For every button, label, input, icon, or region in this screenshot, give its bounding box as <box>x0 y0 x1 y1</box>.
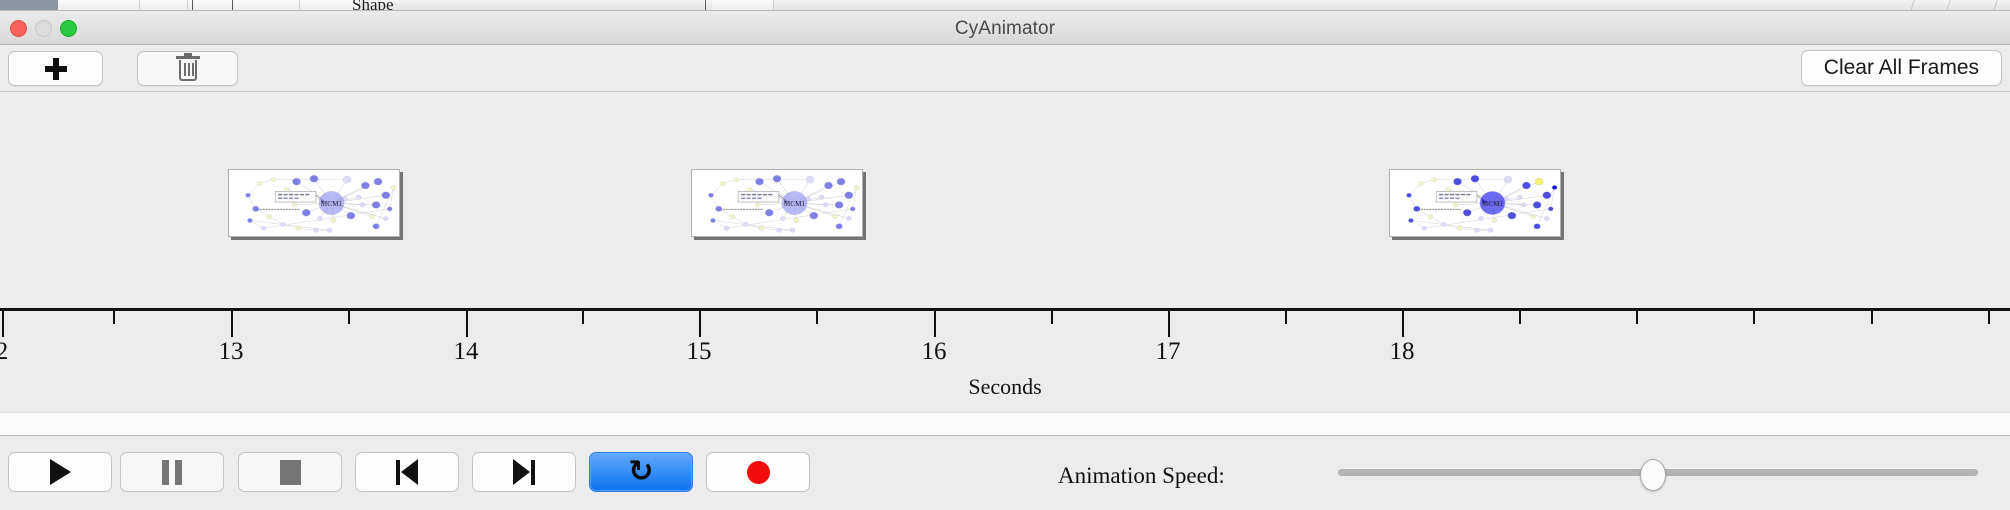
background-window-divider <box>1946 0 1960 11</box>
timeline-frame-thumbnail[interactable]: MCM1 <box>1389 169 1561 237</box>
add-frame-button[interactable] <box>8 51 103 86</box>
timeline-frame-thumbnail[interactable]: MCM1 <box>228 169 400 237</box>
timeline-scrollbar-track[interactable] <box>0 412 2010 436</box>
plus-icon <box>45 58 67 80</box>
axis-tick-major <box>2 311 4 337</box>
animation-speed-label: Animation Speed: <box>1058 463 1225 489</box>
record-icon <box>747 461 770 484</box>
axis-tick-minor <box>1285 311 1287 324</box>
axis-tick-major <box>466 311 468 337</box>
skip-back-icon <box>396 459 418 485</box>
clear-all-frames-button[interactable]: Clear All Frames <box>1801 50 2002 86</box>
playback-bar: ↻ Animation Speed: <box>0 437 2010 510</box>
background-window-tab <box>300 0 360 11</box>
axis-tick-minor <box>1636 311 1638 324</box>
timeline-axis <box>0 308 2010 311</box>
background-window-divider <box>232 0 233 11</box>
axis-tick-minor <box>113 311 115 324</box>
svg-text:MCM1: MCM1 <box>1482 200 1504 208</box>
stop-icon <box>280 460 301 485</box>
axis-tick-major <box>231 311 233 337</box>
cyanimator-window: Shape CyAnimator Clear All Frames 213141… <box>0 0 2010 510</box>
skip-to-start-button[interactable] <box>355 452 459 492</box>
axis-tick-minor <box>348 311 350 324</box>
pause-icon <box>162 460 182 485</box>
stop-button[interactable] <box>238 452 342 492</box>
svg-text:MCM1: MCM1 <box>321 200 343 208</box>
play-button[interactable] <box>8 452 112 492</box>
axis-tick-major <box>934 311 936 337</box>
animation-speed-slider-thumb[interactable] <box>1640 459 1666 491</box>
axis-tick-minor <box>1753 311 1755 324</box>
background-window-divider <box>192 0 193 11</box>
axis-tick-label: 15 <box>687 338 712 366</box>
background-window-dark-region <box>0 0 58 11</box>
axis-tick-minor <box>816 311 818 324</box>
trash-icon <box>176 56 200 82</box>
background-window-tab <box>58 0 140 11</box>
skip-forward-icon <box>513 459 535 485</box>
background-window-strip: Shape <box>0 0 2010 11</box>
delete-frame-button[interactable] <box>137 51 238 86</box>
loop-button[interactable]: ↻ <box>589 452 693 492</box>
background-window-divider <box>1993 0 2007 11</box>
loop-icon: ↻ <box>628 457 653 487</box>
timeline-frame-thumbnail[interactable]: MCM1 <box>691 169 863 237</box>
background-window-tab <box>188 0 300 11</box>
axis-tick-major <box>699 311 701 337</box>
axis-tick-major <box>1402 311 1404 337</box>
axis-tick-minor <box>582 311 584 324</box>
background-window-divider <box>1910 0 1924 11</box>
svg-text:MCM1: MCM1 <box>784 200 806 208</box>
axis-tick-label: 18 <box>1390 338 1415 366</box>
skip-to-end-button[interactable] <box>472 452 576 492</box>
frame-toolbar: Clear All Frames <box>0 45 2010 92</box>
axis-tick-minor <box>1519 311 1521 324</box>
record-button[interactable] <box>706 452 810 492</box>
axis-tick-minor <box>1988 311 1990 324</box>
window-title: CyAnimator <box>0 18 2010 40</box>
background-window-label: Shape <box>352 0 394 11</box>
axis-tick-minor <box>1051 311 1053 324</box>
axis-tick-label: 16 <box>922 338 947 366</box>
axis-tick-major <box>1168 311 1170 337</box>
background-window-tab <box>712 0 774 11</box>
title-bar: CyAnimator <box>0 11 2010 45</box>
axis-tick-label: 2 <box>0 338 8 366</box>
play-icon <box>50 459 71 485</box>
axis-title-seconds: Seconds <box>0 374 2010 400</box>
axis-tick-label: 13 <box>219 338 244 366</box>
pause-button[interactable] <box>120 452 224 492</box>
timeline-panel[interactable]: 2131415161718 MCM1 MCM1 MCM1 Seconds <box>0 92 2010 412</box>
axis-tick-label: 17 <box>1156 338 1181 366</box>
axis-tick-label: 14 <box>454 338 479 366</box>
background-window-divider <box>705 0 706 11</box>
axis-tick-minor <box>1871 311 1873 324</box>
background-window-tab <box>140 0 188 11</box>
